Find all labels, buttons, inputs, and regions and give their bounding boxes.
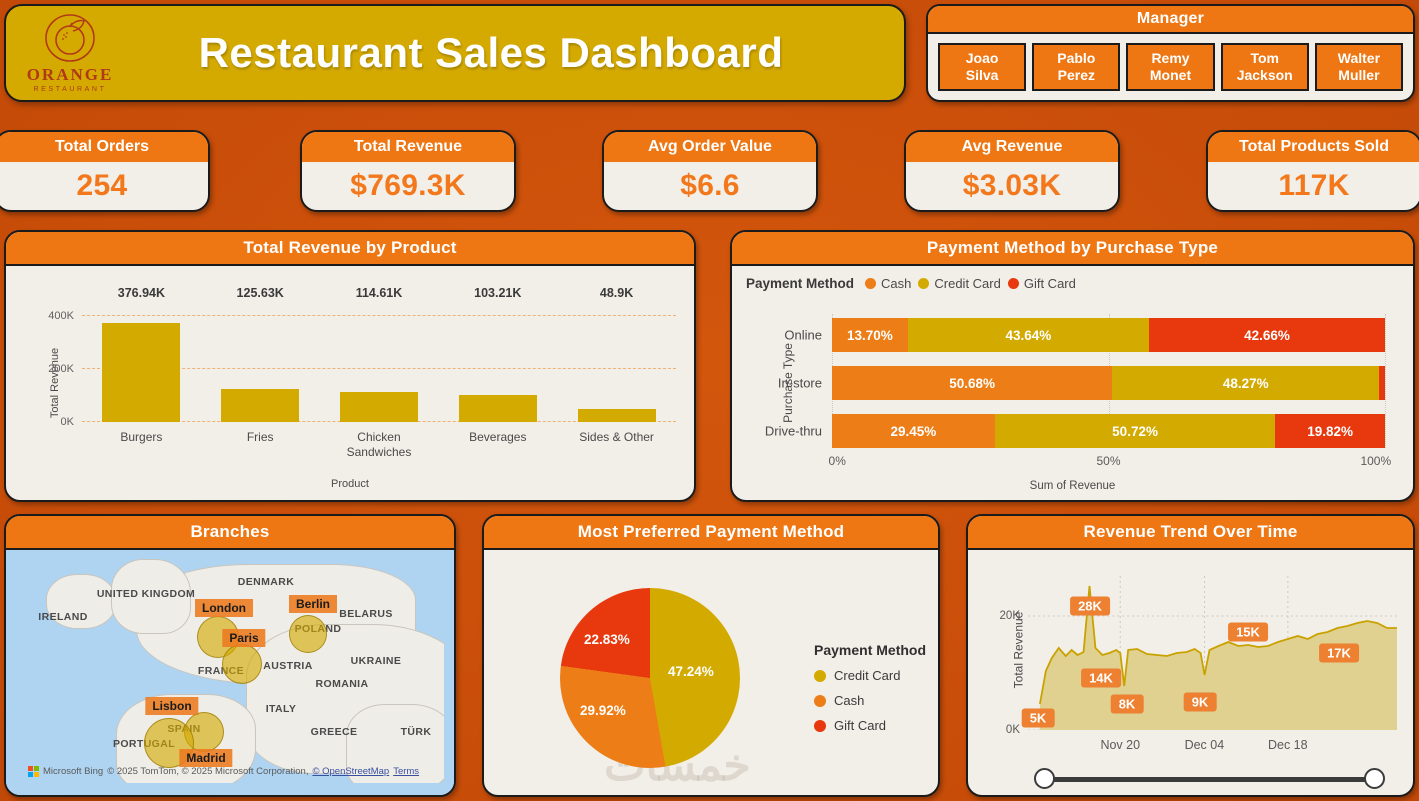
stacked-row-online[interactable]: Online 13.70% 43.64% 42.66% (832, 318, 1385, 352)
legend-item-credit-card[interactable]: Credit Card (918, 276, 1000, 291)
y-tick-0k: 0K (1006, 724, 1020, 736)
country-label: BELARUS (339, 608, 393, 620)
revenue-trend-over-time-panel: Revenue Trend Over Time Total Revenue 20… (966, 514, 1415, 797)
row-label: Drive-thru (765, 424, 822, 439)
manager-first-name: Joao (966, 50, 999, 67)
segment-credit-card[interactable]: 43.64% (908, 318, 1149, 352)
legend-swatch-icon (918, 278, 929, 289)
chart-title: Revenue Trend Over Time (968, 516, 1413, 550)
x-tick-0: 0% (829, 454, 846, 468)
map-pin-berlin[interactable]: Berlin (289, 595, 337, 613)
x-tick-dec-18: Dec 18 (1268, 738, 1308, 752)
segment-gift-card[interactable] (1379, 366, 1385, 400)
pie-label-credit-card: 47.24% (668, 664, 714, 679)
date-range-slider[interactable] (1034, 768, 1385, 790)
legend-item-credit-card[interactable]: Credit Card (814, 668, 926, 683)
segment-gift-card[interactable]: 19.82% (1275, 414, 1385, 448)
manager-item-0[interactable]: Joao Silva (938, 43, 1026, 91)
legend-swatch-icon (814, 720, 826, 732)
manager-first-name: Remy (1151, 50, 1189, 67)
callout-15k: 15K (1228, 623, 1268, 642)
logo-name: ORANGE (27, 66, 114, 83)
chart-title: Branches (6, 516, 454, 550)
legend-label: Gift Card (834, 718, 886, 733)
legend-title: Payment Method (814, 642, 926, 658)
kpi-card-avg-revenue[interactable]: Avg Revenue $3.03K (904, 130, 1120, 212)
most-preferred-payment-method-panel: Most Preferred Payment Method خمسات 47.2… (482, 514, 940, 797)
bar-column[interactable]: 125.63K Fries (201, 306, 320, 422)
country-label: GREECE (311, 726, 358, 738)
attribution-brand: Microsoft Bing (43, 766, 103, 777)
map-pin-lisbon[interactable]: Lisbon (145, 697, 198, 715)
kpi-value: $3.03K (906, 162, 1118, 210)
legend-label: Cash (881, 276, 911, 291)
chart-title: Payment Method by Purchase Type (732, 232, 1413, 266)
manager-first-name: Pablo (1057, 50, 1095, 67)
callout-14k: 14K (1081, 669, 1121, 688)
branches-map-panel: Branches IRELAND UNITED KINGDOM DENMARK … (4, 514, 456, 797)
legend-title: Payment Method (746, 276, 854, 291)
legend-label: Credit Card (934, 276, 1000, 291)
manager-last-name: Silva (966, 67, 999, 84)
kpi-label: Total Products Sold (1208, 132, 1419, 162)
country-label: ROMANIA (316, 678, 369, 690)
map-pin-london[interactable]: London (195, 599, 253, 617)
dashboard-page: ORANGE RESTAURANT Restaurant Sales Dashb… (0, 0, 1419, 801)
callout-17k: 17K (1319, 644, 1359, 663)
bar-column[interactable]: 48.9K Sides & Other (557, 306, 676, 422)
bar-plot-area: 0K 200K 400K 376.94K Burgers 125.63K (82, 306, 676, 422)
y-tick-2: 400K (48, 310, 74, 322)
bar-column[interactable]: 114.61K Chicken Sandwiches (320, 306, 439, 422)
bar-category-label: Fries (208, 430, 312, 445)
stacked-bar-chart[interactable]: Payment Method Cash Credit Card Gift Car… (732, 266, 1413, 500)
segment-credit-card[interactable]: 48.27% (1112, 366, 1379, 400)
manager-last-name: Monet (1150, 67, 1191, 84)
segment-cash[interactable]: 50.68% (832, 366, 1112, 400)
manager-item-2[interactable]: Remy Monet (1126, 43, 1214, 91)
x-axis-label: Product (6, 478, 694, 490)
kpi-value: 117K (1208, 162, 1419, 210)
slider-track[interactable] (1046, 777, 1373, 782)
map-pin-paris[interactable]: Paris (222, 629, 265, 647)
attribution-text: © 2025 TomTom, © 2025 Microsoft Corporat… (107, 766, 308, 777)
header-banner: ORANGE RESTAURANT Restaurant Sales Dashb… (4, 4, 906, 102)
chart-title: Most Preferred Payment Method (484, 516, 938, 550)
total-revenue-by-product-panel: Total Revenue by Product Total Revenue P… (4, 230, 696, 502)
legend-label: Cash (834, 693, 864, 708)
openstreetmap-link[interactable]: © OpenStreetMap (312, 766, 389, 777)
segment-cash[interactable]: 13.70% (832, 318, 908, 352)
callout-9k: 9K (1184, 693, 1217, 712)
bar-category-label: Chicken Sandwiches (327, 430, 431, 460)
y-axis-label: Total Revenue (1011, 612, 1025, 689)
segment-gift-card[interactable]: 42.66% (1149, 318, 1385, 352)
segment-credit-card[interactable]: 50.72% (995, 414, 1275, 448)
manager-slicer-panel: Manager Joao Silva Pablo Perez Remy Mone… (926, 4, 1415, 102)
country-label: UKRAINE (351, 655, 402, 667)
x-tick-dec-04: Dec 04 (1185, 738, 1225, 752)
callout-5k: 5K (1022, 709, 1055, 728)
chart-title: Total Revenue by Product (6, 232, 694, 266)
legend-label: Credit Card (834, 668, 900, 683)
page-title: Restaurant Sales Dashboard (118, 29, 904, 77)
legend: Payment Method Cash Credit Card Gift Car… (746, 276, 1076, 291)
kpi-card-total-orders[interactable]: Total Orders 254 (0, 130, 210, 212)
pie-chart[interactable]: خمسات 47.24% 29.92% 22.83% Payment Metho… (484, 550, 938, 795)
y-tick-0: 0K (61, 416, 74, 428)
logo-subtitle: RESTAURANT (34, 86, 107, 93)
callout-28k: 28K (1070, 597, 1110, 616)
y-tick-1: 200K (48, 363, 74, 375)
manager-last-name: Perez (1058, 67, 1095, 84)
bar-series: 376.94K Burgers 125.63K Fries 114.61K Ch… (82, 306, 676, 422)
pie-label-gift-card: 22.83% (584, 632, 630, 647)
manager-slicer-title: Manager (928, 6, 1413, 34)
kpi-label: Avg Revenue (906, 132, 1118, 162)
manager-first-name: Walter (1338, 50, 1380, 67)
revenue-trend-chart[interactable]: Total Revenue 20K 0K Nov 20 Dec 04 Dec 1… (968, 550, 1413, 795)
map-pin-madrid[interactable]: Madrid (179, 749, 232, 767)
map-attribution: Microsoft Bing © 2025 TomTom, © 2025 Mic… (28, 766, 432, 777)
slider-handle-end[interactable] (1364, 768, 1385, 789)
map-bubble-berlin[interactable] (289, 615, 327, 653)
bar-chart[interactable]: Total Revenue Product 0K 200K 400K 376.9… (6, 266, 694, 500)
bar-data-label: 114.61K (356, 286, 403, 300)
kpi-label: Avg Order Value (604, 132, 816, 162)
bar-column[interactable]: 376.94K Burgers (82, 306, 201, 422)
pie-legend: Payment Method Credit Card Cash Gift Car… (814, 642, 926, 743)
row-label: In-store (778, 376, 822, 391)
bar-data-label: 103.21K (474, 286, 521, 300)
country-label: TÜRK (401, 726, 432, 738)
stacked-plot-area: Online 13.70% 43.64% 42.66% In-store 50.… (832, 314, 1385, 448)
bar-data-label: 48.9K (600, 286, 633, 300)
bar-category-label: Beverages (446, 430, 550, 445)
pie-graphic[interactable]: 47.24% 29.92% 22.83% (560, 588, 740, 768)
pie-label-cash: 29.92% (580, 703, 626, 718)
bar-chicken-sandwiches[interactable] (340, 392, 418, 422)
stacked-row-in-store[interactable]: In-store 50.68% 48.27% (832, 366, 1385, 400)
bar-burgers[interactable] (102, 323, 180, 422)
manager-item-1[interactable]: Pablo Perez (1032, 43, 1120, 91)
legend-swatch-icon (865, 278, 876, 289)
country-label: IRELAND (38, 611, 87, 623)
kpi-value: $769.3K (302, 162, 514, 210)
legend-label: Gift Card (1024, 276, 1076, 291)
country-label: AUSTRIA (263, 660, 312, 672)
legend-swatch-icon (1008, 278, 1019, 289)
terms-link[interactable]: Terms (393, 766, 419, 777)
bar-beverages[interactable] (459, 395, 537, 422)
x-tick-1: 50% (1096, 454, 1120, 468)
bar-data-label: 376.94K (118, 286, 165, 300)
bar-data-label: 125.63K (237, 286, 284, 300)
legend-item-cash[interactable]: Cash (865, 276, 911, 291)
row-label: Online (784, 328, 822, 343)
legend-swatch-icon (814, 695, 826, 707)
payment-method-by-purchase-type-panel: Payment Method by Purchase Type Payment … (730, 230, 1415, 502)
bar-category-label: Sides & Other (565, 430, 669, 445)
y-tick-20k: 20K (1000, 610, 1020, 622)
x-tick-2: 100% (1360, 454, 1391, 468)
manager-slicer-list: Joao Silva Pablo Perez Remy Monet Tom Ja… (928, 34, 1413, 100)
y-axis-label: Total Revenue (49, 348, 61, 418)
manager-last-name: Muller (1338, 67, 1379, 84)
x-axis-label: Sum of Revenue (732, 480, 1413, 492)
slider-handle-start[interactable] (1034, 768, 1055, 789)
callout-8k: 8K (1111, 695, 1144, 714)
legend-item-gift-card[interactable]: Gift Card (1008, 276, 1076, 291)
kpi-label: Total Revenue (302, 132, 514, 162)
manager-first-name: Tom (1250, 50, 1279, 67)
kpi-card-avg-order-value[interactable]: Avg Order Value $6.6 (602, 130, 818, 212)
segment-cash[interactable]: 29.45% (832, 414, 995, 448)
country-label: ITALY (266, 703, 297, 715)
manager-item-3[interactable]: Tom Jackson (1221, 43, 1309, 91)
kpi-card-total-revenue[interactable]: Total Revenue $769.3K (300, 130, 516, 212)
stacked-row-drive-thru[interactable]: Drive-thru 29.45% 50.72% 19.82% (832, 414, 1385, 448)
bar-sides-other[interactable] (578, 409, 656, 422)
orange-fruit-icon: ORANGE RESTAURANT (22, 10, 118, 96)
kpi-card-total-products-sold[interactable]: Total Products Sold 117K (1206, 130, 1419, 212)
legend-swatch-icon (814, 670, 826, 682)
x-tick-nov-20: Nov 20 (1100, 738, 1140, 752)
legend-item-cash[interactable]: Cash (814, 693, 926, 708)
branches-map[interactable]: IRELAND UNITED KINGDOM DENMARK BELARUS P… (6, 550, 454, 795)
manager-item-4[interactable]: Walter Muller (1315, 43, 1403, 91)
line-plot-area: 20K 0K Nov 20 Dec 04 Dec 18 5K 28K 14K 8… (1028, 576, 1397, 730)
microsoft-logo-icon (28, 766, 39, 777)
bar-fries[interactable] (221, 389, 299, 422)
country-label: DENMARK (238, 576, 294, 588)
legend-item-gift-card[interactable]: Gift Card (814, 718, 926, 733)
bar-category-label: Burgers (89, 430, 193, 445)
map-bubble-france[interactable] (222, 644, 262, 684)
map-canvas[interactable]: IRELAND UNITED KINGDOM DENMARK BELARUS P… (6, 550, 454, 795)
kpi-label: Total Orders (0, 132, 208, 162)
map-tiles[interactable]: IRELAND UNITED KINGDOM DENMARK BELARUS P… (16, 554, 444, 783)
kpi-value: $6.6 (604, 162, 816, 210)
bar-column[interactable]: 103.21K Beverages (438, 306, 557, 422)
kpi-value: 254 (0, 162, 208, 210)
manager-last-name: Jackson (1237, 67, 1293, 84)
country-label: UNITED KINGDOM (97, 588, 195, 600)
